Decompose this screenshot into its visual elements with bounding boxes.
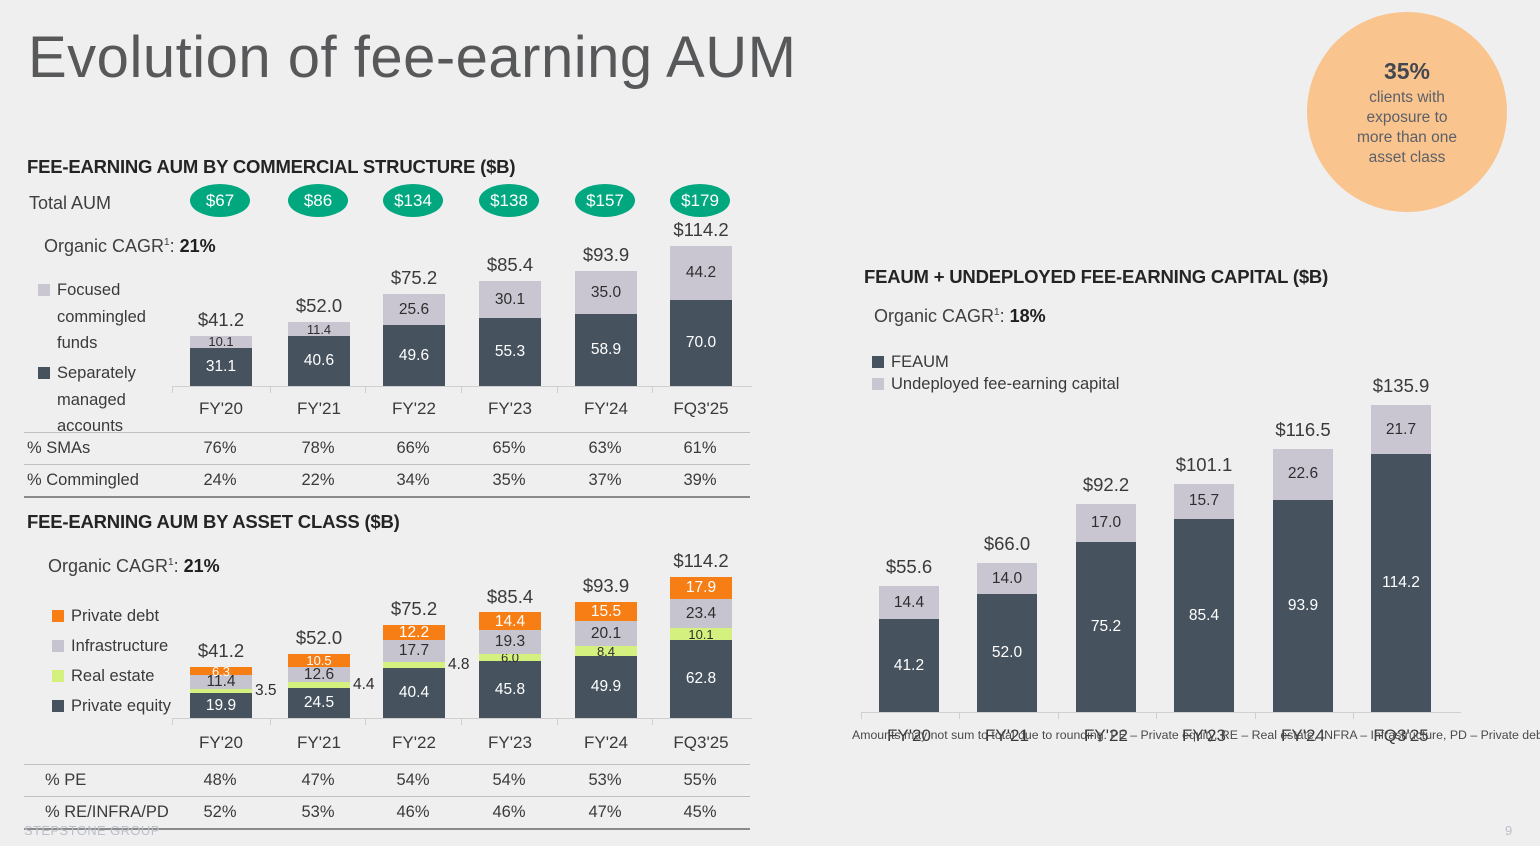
legend-item-undeployed-fee-earning-capital: Undeployed fee-earning capital [872,375,1119,394]
axis-tick [1058,712,1059,719]
cagr-asset-sep: : [174,556,184,576]
legend-label-text: Infrastructure [71,637,168,655]
legend-item-feaum: FEAUM [872,353,949,372]
total-aum-label: Total AUM [29,193,111,214]
bar-segment: 40.6 [288,336,350,386]
table-cell: 54% [459,771,559,790]
bar-total-label: $41.2 [168,640,274,662]
axis-tick [172,386,173,393]
bar-segment: 10.1 [190,336,252,348]
table-cell: 54% [363,771,463,790]
axis-tick [959,712,960,719]
table-cell: 39% [650,471,750,490]
bar-segment: 12.2 [383,625,445,640]
axis-tick [1255,712,1256,719]
bar-segment: 6.0 [479,654,541,661]
bar-total-label: $92.2 [1054,474,1158,496]
total-aum-pill: $157 [575,184,635,217]
x-axis-tick-label: FQ3'25 [644,399,758,419]
bar-segment: 31.1 [190,348,252,386]
legend-label-line1: Focused [38,277,188,304]
axis-tick [270,718,271,725]
legend-label-text: Undeployed fee-earning capital [891,375,1119,393]
total-aum-pill: $138 [479,184,539,217]
table-row-label: % RE/INFRA/PD [45,803,169,822]
legend-label-text: FEAUM [891,353,949,371]
bar-total-label: $75.2 [361,598,467,620]
cagr-feaum: Organic CAGR1: 18% [874,306,1046,327]
bar-total-label: $135.9 [1349,375,1453,397]
bar-segment-label-outside: 4.8 [448,656,470,674]
bar-segment: 45.8 [479,661,541,718]
bar-total-label: $52.0 [266,295,372,317]
bar-segment [288,682,350,687]
table-rule-mid [24,796,750,797]
axis-tick [557,386,558,393]
legend-label-text: Focused [57,281,120,299]
page-number: 9 [1505,823,1512,838]
table-cell: 35% [459,471,559,490]
table-row-label: % Commingled [27,471,139,490]
bar-segment: 19.3 [479,630,541,654]
bar-segment [383,662,445,668]
legend-swatch [38,367,50,379]
bar-segment: 75.2 [1076,542,1136,712]
bar-total-label: $52.0 [266,627,372,649]
cagr-feaum-prefix: Organic CAGR [874,306,994,326]
table-cell: 76% [170,439,270,458]
bar-segment: 24.5 [288,688,350,718]
axis-tick [1353,712,1354,719]
table-row-label: % SMAs [27,439,90,458]
legend-swatch [38,284,50,296]
x-axis-tick-label: FY'20 [164,399,278,419]
cagr-asset-prefix: Organic CAGR [48,556,168,576]
stat-badge-line4: asset class [1369,148,1446,168]
bar-segment: 21.7 [1371,405,1431,454]
legend-item-private-debt: Private debt [52,607,159,626]
legend-label-text: Real estate [71,667,154,685]
bar-segment-label-outside: 3.5 [255,682,277,700]
footnote: Amounts may not sum to total due to roun… [852,728,1540,742]
axis-tick [365,718,366,725]
cagr-commercial-prefix: Organic CAGR [44,236,164,256]
bar-segment: 70.0 [670,300,732,386]
bar-segment: 55.3 [479,318,541,386]
bar-total-label: $114.2 [648,219,754,241]
legend-swatch [52,610,64,622]
bar-segment: 22.6 [1273,449,1333,500]
axis-tick [652,718,653,725]
cagr-asset-value: 21% [184,556,220,576]
table-rule-top [24,764,750,765]
bar-segment: 20.1 [575,621,637,646]
legend-label-text: Separately [57,364,136,382]
cagr-commercial: Organic CAGR1: 21% [44,236,216,257]
section-header-asset-class: FEE-EARNING AUM BY ASSET CLASS ($B) [27,511,400,533]
legend-item-infrastructure: Infrastructure [52,637,168,656]
table-cell: 66% [363,439,463,458]
bar-segment: 62.8 [670,640,732,718]
legend-swatch [52,670,64,682]
table-cell: 46% [363,803,463,822]
legend-item-focused-commingled-funds: Focusedcommingledfunds [38,277,188,357]
bar-segment: 17.9 [670,577,732,599]
bar-segment: 14.0 [977,563,1037,595]
table-rule-bottom [24,496,750,498]
legend-label-text: Private equity [71,697,171,715]
axis-tick [172,718,173,725]
legend-label-text: Private debt [71,607,159,625]
stat-badge-line2: exposure to [1367,108,1448,128]
table-cell: 47% [555,803,655,822]
bar-segment: 8.4 [575,646,637,656]
chart-axis-line [172,718,752,719]
bar-segment: 85.4 [1174,519,1234,712]
bar-total-label: $75.2 [361,267,467,289]
brand-logo: STEPSTONE GROUP [24,823,160,838]
bar-segment: 17.7 [383,640,445,662]
bar-total-label: $66.0 [955,533,1059,555]
slide: Evolution of fee-earning AUM 35% clients… [0,0,1540,846]
bar-segment: 14.4 [479,612,541,630]
chart-axis-line [172,386,752,387]
bar-segment: 17.0 [1076,504,1136,542]
table-cell: 22% [268,471,368,490]
table-cell: 65% [459,439,559,458]
bar-segment: 10.1 [670,628,732,640]
legend-swatch [52,700,64,712]
table-cell: 37% [555,471,655,490]
table-cell: 52% [170,803,270,822]
bar-total-label: $85.4 [457,586,563,608]
table-cell: 46% [459,803,559,822]
total-aum-pill: $67 [190,184,250,217]
bar-segment: 93.9 [1273,500,1333,712]
x-axis-tick-label: FQ3'25 [644,733,758,753]
table-cell: 61% [650,439,750,458]
axis-tick [652,386,653,393]
table-cell: 53% [268,803,368,822]
bar-segment: 49.6 [383,325,445,386]
bar-segment: 35.0 [575,271,637,314]
bar-segment: 14.4 [879,586,939,619]
cagr-commercial-sep: : [170,236,180,256]
bar-total-label: $55.6 [857,556,961,578]
bar-total-label: $85.4 [457,254,563,276]
legend-swatch [872,378,884,390]
table-cell: 48% [170,771,270,790]
bar-segment: 52.0 [977,594,1037,712]
bar-segment: 23.4 [670,599,732,628]
bar-total-label: $93.9 [553,575,659,597]
cagr-feaum-sep: : [1000,306,1010,326]
total-aum-pill: $179 [670,184,730,217]
stat-badge: 35% clients with exposure to more than o… [1307,12,1507,212]
legend-item-real-estate: Real estate [52,667,154,686]
bar-segment: 12.6 [288,667,350,683]
bar-segment: 19.9 [190,693,252,718]
bar-segment: 15.5 [575,602,637,621]
bar-segment: 25.6 [383,294,445,325]
bar-total-label: $101.1 [1152,454,1256,476]
legend-swatch [52,640,64,652]
stat-badge-line3: more than one [1357,128,1457,148]
table-cell: 45% [650,803,750,822]
bar-total-label: $114.2 [648,550,754,572]
x-axis-tick-label: FY'20 [164,733,278,753]
table-cell: 55% [650,771,750,790]
axis-tick [461,386,462,393]
table-cell: 63% [555,439,655,458]
axis-tick [1156,712,1157,719]
table-cell: 53% [555,771,655,790]
cagr-asset: Organic CAGR1: 21% [48,556,220,577]
section-header-commercial-structure: FEE-EARNING AUM BY COMMERCIAL STRUCTURE … [27,156,515,178]
legend-label-line1: Separately [38,360,188,387]
bar-segment: 15.7 [1174,484,1234,519]
bar-segment: 49.9 [575,656,637,718]
bar-segment: 10.5 [288,654,350,667]
legend-swatch [872,356,884,368]
bar-segment: 30.1 [479,281,541,318]
axis-tick [365,386,366,393]
axis-tick [461,718,462,725]
cagr-commercial-value: 21% [180,236,216,256]
legend-item-private-equity: Private equity [52,697,171,716]
axis-tick [557,718,558,725]
table-cell: 47% [268,771,368,790]
table-cell: 24% [170,471,270,490]
axis-tick [861,712,862,719]
bar-segment: 11.4 [288,322,350,336]
bar-segment-label-outside: 4.4 [353,676,375,694]
table-rule-mid [24,464,750,465]
cagr-feaum-value: 18% [1010,306,1046,326]
bar-segment: 41.2 [879,619,939,712]
page-title: Evolution of fee-earning AUM [28,24,796,91]
bar-segment: 114.2 [1371,454,1431,712]
table-cell: 78% [268,439,368,458]
legend-label-line3: funds [57,330,188,357]
bar-segment: 40.4 [383,668,445,718]
bar-segment: 6.3 [190,667,252,675]
section-header-feaum: FEAUM + UNDEPLOYED FEE-EARNING CAPITAL (… [864,266,1328,288]
stat-badge-line1: clients with [1369,88,1445,108]
total-aum-pill: $134 [383,184,443,217]
bar-total-label: $41.2 [168,309,274,331]
bar-total-label: $116.5 [1251,419,1355,441]
table-cell: 34% [363,471,463,490]
stat-badge-value: 35% [1384,57,1430,86]
bar-segment: 44.2 [670,246,732,300]
table-row-label: % PE [45,771,86,790]
axis-tick [270,386,271,393]
bar-total-label: $93.9 [553,244,659,266]
table-rule-top [24,432,750,433]
chart-axis-line [861,712,1461,713]
total-aum-pill: $86 [288,184,348,217]
bar-segment: 58.9 [575,314,637,386]
